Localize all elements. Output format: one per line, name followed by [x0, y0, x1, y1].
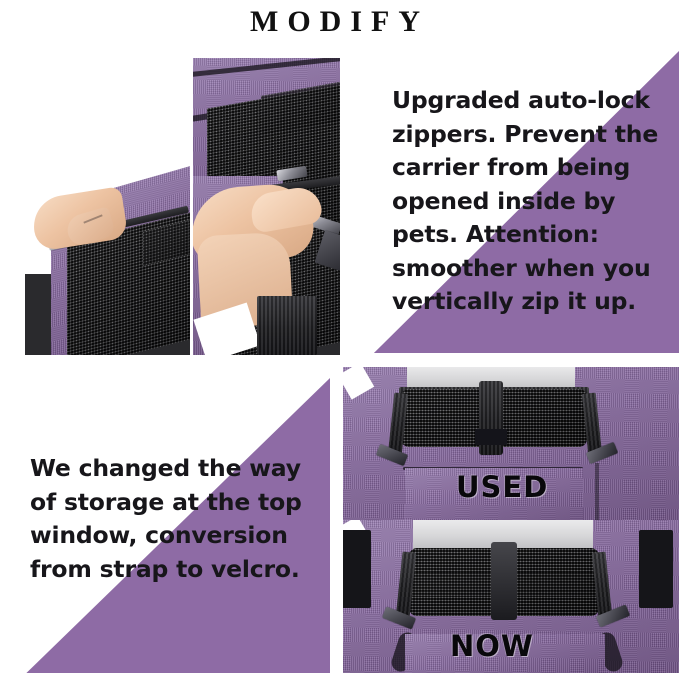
page-title: MODIFY — [0, 4, 679, 40]
photo-zipper-pull — [25, 58, 190, 355]
photo-label-now: NOW — [450, 629, 534, 663]
callout-text-top-right: Upgraded auto-lock zippers. Prevent the … — [392, 84, 660, 319]
photo-auto-lock-zippers — [193, 58, 340, 355]
infographic-page: MODIFY — [0, 0, 679, 673]
photo-label-used: USED — [456, 470, 548, 504]
callout-text-bottom-left: We changed the way of storage at the top… — [30, 452, 320, 586]
